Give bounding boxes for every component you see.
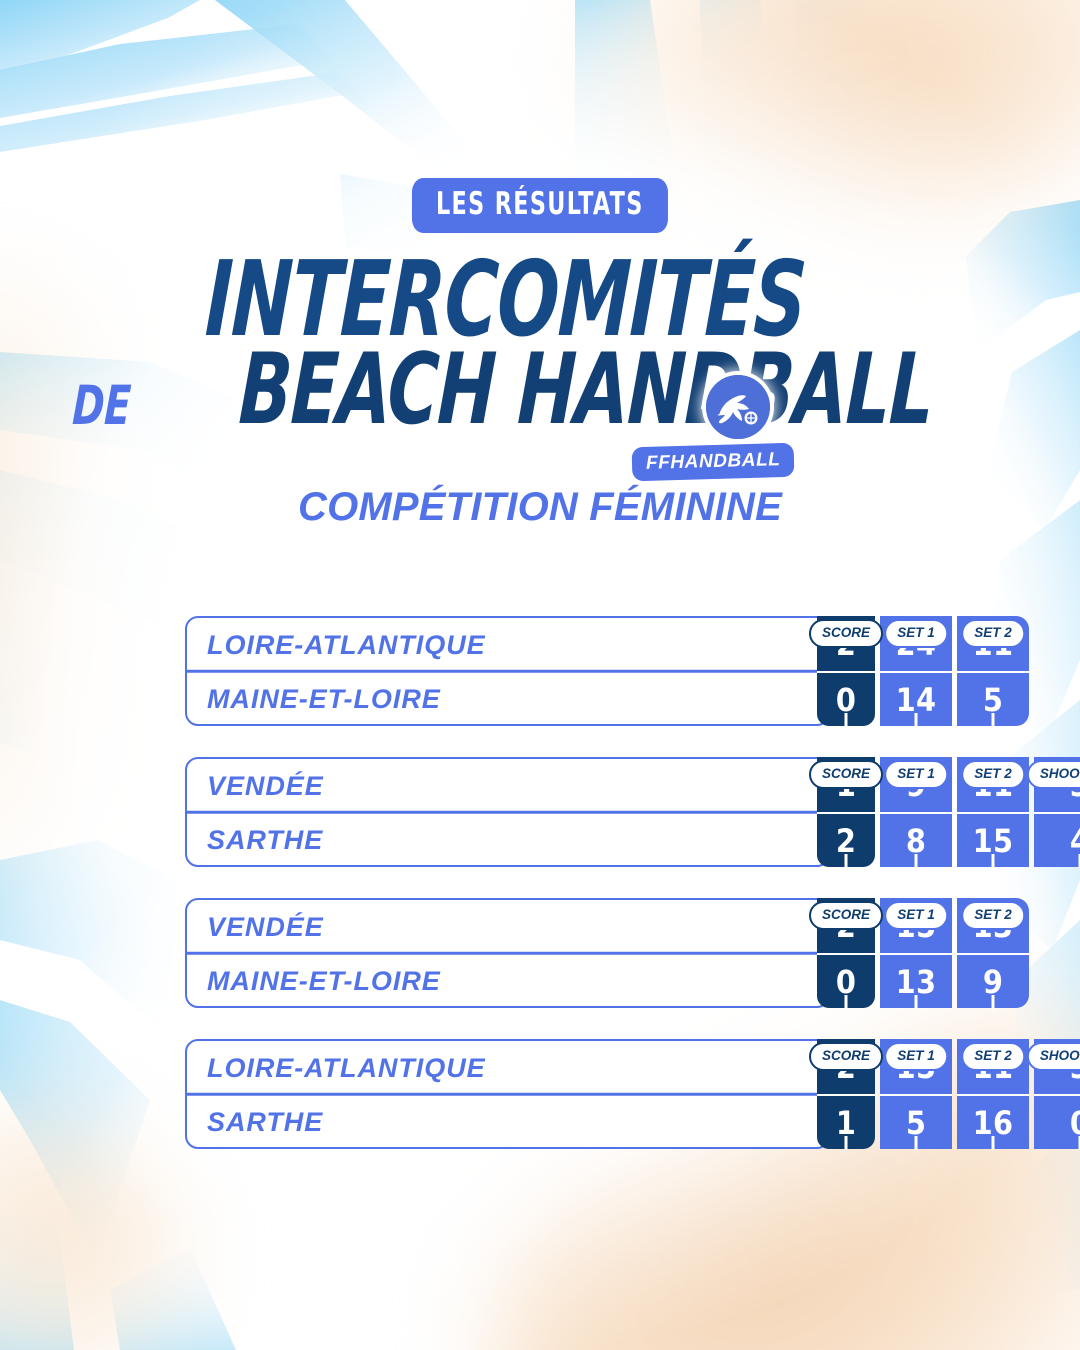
- column-set-2: 1115SET 2: [957, 757, 1034, 867]
- column-header-chip: SET 1: [884, 901, 948, 930]
- ffhandball-logo: [706, 375, 770, 439]
- column-notch: [915, 713, 918, 727]
- results-eyebrow-badge: LES RÉSULTATS: [412, 178, 668, 233]
- score-columns: 20SCORE1513SET 1139SET 2: [817, 898, 1029, 1008]
- column-header-chip: SHOOT OUT: [1027, 760, 1080, 789]
- column-notch: [992, 995, 995, 1009]
- column-score: 20SCORE: [817, 898, 880, 1008]
- column-set-1: 1513SET 1: [880, 898, 957, 1008]
- column-notch: [845, 1136, 848, 1150]
- column-notch: [915, 854, 918, 868]
- column-notch: [845, 995, 848, 1009]
- team-names: LOIRE-ATLANTIQUEMAINE-ET-LOIRE: [185, 616, 830, 726]
- column-notch: [992, 1136, 995, 1150]
- column-header-chip: SCORE: [809, 760, 883, 789]
- page-title-line2: BEACH HANDBALL: [237, 341, 935, 439]
- column-header-chip: SET 2: [961, 619, 1025, 648]
- column-notch: [992, 713, 995, 727]
- score-cell: 0: [1034, 1094, 1080, 1149]
- column-notch: [915, 1136, 918, 1150]
- score-columns: 21SCORE155SET 11116SET 230SHOOT OUT: [817, 1039, 1080, 1149]
- team-name: SARTHE: [207, 1095, 323, 1150]
- page-title-de: DE: [71, 379, 131, 433]
- team-name: LOIRE-ATLANTIQUE: [207, 1041, 486, 1096]
- score-cell: 4: [1034, 812, 1080, 867]
- match-card: VENDÉEMAINE-ET-LOIRE20SCORE1513SET 1139S…: [185, 898, 945, 1008]
- column-header-chip: SET 2: [961, 1042, 1025, 1071]
- column-notch: [845, 713, 848, 727]
- column-notch: [992, 854, 995, 868]
- column-set-1: 2414SET 1: [880, 616, 957, 726]
- team-names: LOIRE-ATLANTIQUESARTHE: [185, 1039, 830, 1149]
- score-columns: 12SCORE98SET 11115SET 234SHOOT OUT: [817, 757, 1080, 867]
- column-shoot-out: 34SHOOT OUT: [1034, 757, 1080, 867]
- column-header-chip: SET 2: [961, 901, 1025, 930]
- team-names: VENDÉESARTHE: [185, 757, 830, 867]
- match-card: VENDÉESARTHE12SCORE98SET 11115SET 234SHO…: [185, 757, 945, 867]
- column-header-chip: SET 1: [884, 619, 948, 648]
- column-set-1: 155SET 1: [880, 1039, 957, 1149]
- column-set-2: 115SET 2: [957, 616, 1029, 726]
- column-header-chip: SHOOT OUT: [1027, 1042, 1080, 1071]
- column-notch: [845, 854, 848, 868]
- column-shoot-out: 30SHOOT OUT: [1034, 1039, 1080, 1149]
- team-name: LOIRE-ATLANTIQUE: [207, 618, 486, 673]
- team-name: SARTHE: [207, 813, 323, 868]
- column-header-chip: SET 1: [884, 760, 948, 789]
- column-header-chip: SCORE: [809, 1042, 883, 1071]
- team-names: VENDÉEMAINE-ET-LOIRE: [185, 898, 830, 1008]
- column-score: 20SCORE: [817, 616, 880, 726]
- column-notch: [915, 995, 918, 1009]
- column-set-2: 1116SET 2: [957, 1039, 1034, 1149]
- column-header-chip: SCORE: [809, 619, 883, 648]
- column-header-chip: SET 2: [961, 760, 1025, 789]
- match-card: LOIRE-ATLANTIQUEMAINE-ET-LOIRE20SCORE241…: [185, 616, 945, 726]
- column-score: 21SCORE: [817, 1039, 880, 1149]
- title-block: INTERCOMITÉS DE BEACH HANDBALL FFHANDBAL…: [0, 247, 1080, 479]
- score-columns: 20SCORE2414SET 1115SET 2: [817, 616, 1029, 726]
- team-name: MAINE-ET-LOIRE: [207, 954, 441, 1009]
- column-set-1: 98SET 1: [880, 757, 957, 867]
- header: LES RÉSULTATS INTERCOMITÉS DE BEACH HAND…: [0, 178, 1080, 529]
- team-name: VENDÉE: [207, 759, 324, 814]
- federation-badge: FFHANDBALL: [632, 443, 795, 482]
- team-name: MAINE-ET-LOIRE: [207, 672, 441, 727]
- column-set-2: 139SET 2: [957, 898, 1029, 1008]
- column-header-chip: SCORE: [809, 901, 883, 930]
- match-results-list: LOIRE-ATLANTIQUEMAINE-ET-LOIRE20SCORE241…: [185, 616, 945, 1180]
- team-name: VENDÉE: [207, 900, 324, 955]
- match-card: LOIRE-ATLANTIQUESARTHE21SCORE155SET 1111…: [185, 1039, 945, 1149]
- column-header-chip: SET 1: [884, 1042, 948, 1071]
- page-subtitle: COMPÉTITION FÉMININE: [0, 485, 1080, 529]
- page-title-line2-row: DE BEACH HANDBALL: [0, 341, 1080, 439]
- column-score: 12SCORE: [817, 757, 880, 867]
